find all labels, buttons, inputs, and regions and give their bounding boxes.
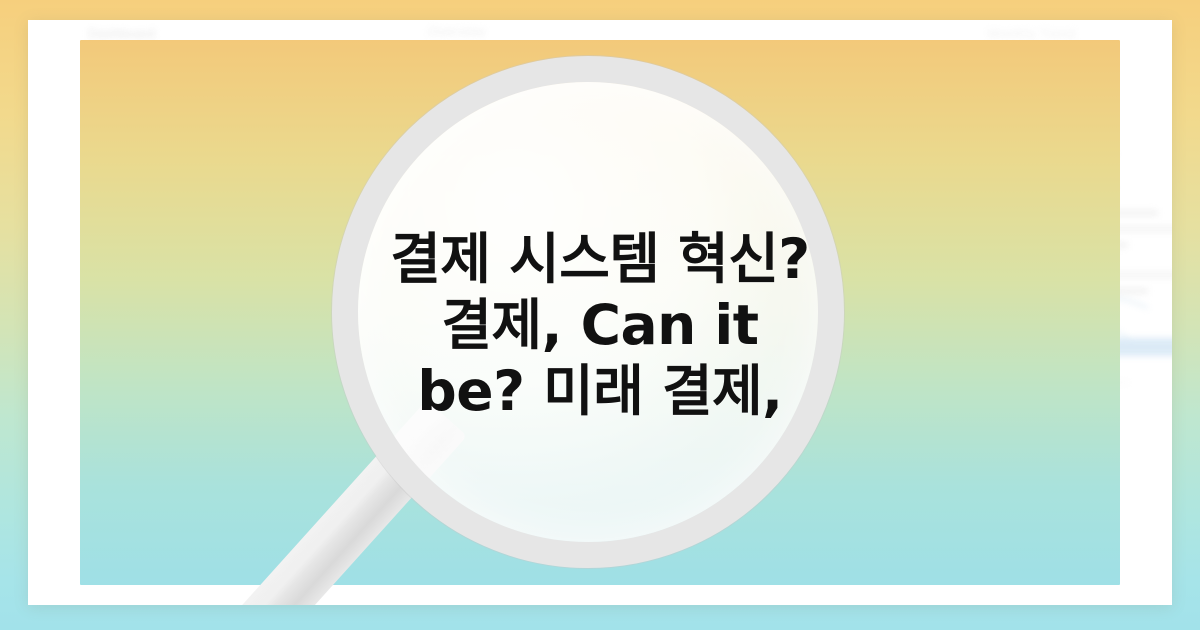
chart-axis — [114, 190, 434, 191]
bar — [182, 164, 208, 190]
bar — [396, 155, 418, 191]
backdrop-label-monthly: Monthly Trend — [988, 26, 1076, 41]
bar — [148, 96, 174, 190]
backdrop-label-metrics: Key Metrics — [688, 450, 760, 465]
metric-chip — [1038, 210, 1158, 216]
bar — [308, 165, 342, 191]
grid-line — [728, 525, 1108, 526]
hbar — [464, 94, 612, 107]
grid-line — [138, 490, 139, 560]
poster-canvas: Dashboard Overview Monthly Trend Revenue… — [0, 0, 1200, 630]
backdrop-label-revenue: Revenue Area Chart — [128, 200, 253, 215]
bar — [244, 65, 270, 190]
content-card: Dashboard Overview Monthly Trend Revenue… — [28, 20, 1172, 605]
hbar — [464, 64, 724, 77]
bar — [114, 122, 140, 190]
bar — [216, 91, 242, 190]
backdrop-overlay-line — [796, 62, 1126, 192]
hbar — [464, 128, 786, 141]
grid-line — [88, 560, 508, 561]
hbar — [464, 146, 560, 155]
grid-line — [178, 460, 179, 560]
bar — [276, 143, 302, 190]
hbar — [464, 115, 694, 124]
page-title: 결제 시스템 혁신? 결제, Can it be? 미래 결제, — [28, 226, 1172, 424]
backdrop-label-dashboard: Dashboard — [88, 26, 155, 41]
backdrop-label-overview: Overview — [428, 24, 485, 39]
hbar — [464, 80, 764, 89]
grid-line — [218, 500, 219, 560]
